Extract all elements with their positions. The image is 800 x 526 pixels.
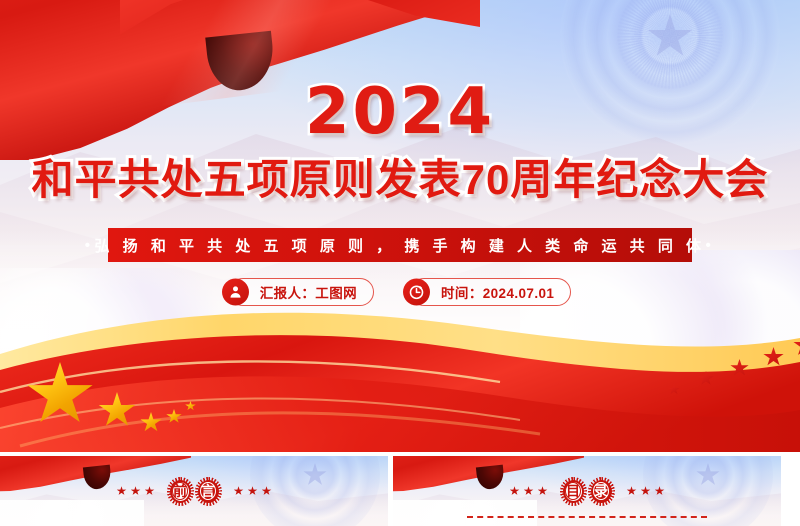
seal-badge: 前: [167, 477, 194, 506]
seal-char: 录: [588, 477, 615, 506]
subtitle-banner: • 弘 扬 和 平 共 处 五 项 原 则 ， 携 手 构 建 人 类 命 运 …: [108, 228, 692, 262]
seal-badge: 目: [560, 477, 587, 506]
subtitle-dot-right: •: [706, 237, 716, 254]
thumbnail-strip: 前 言: [0, 456, 800, 526]
slide-content: 2024 和平共处五项原则发表70周年纪念大会 • 弘 扬 和 平 共 处 五 …: [0, 0, 800, 452]
seal-pair: 目 录: [560, 477, 615, 506]
meta-pill-row: 汇报人：工图网 时间：2024.07.01: [0, 278, 800, 306]
presenter-pill[interactable]: 汇报人：工图网: [229, 278, 374, 306]
date-pill[interactable]: 时间：2024.07.01: [410, 278, 571, 306]
person-icon: [222, 279, 249, 306]
seal-badge: 言: [195, 477, 222, 506]
seal-char: 言: [195, 477, 222, 506]
clock-icon: [403, 279, 430, 306]
star-group-right: [234, 486, 272, 496]
presenter-label: 汇报人：工图网: [260, 282, 357, 302]
main-slide[interactable]: 2024 和平共处五项原则发表70周年纪念大会 • 弘 扬 和 平 共 处 五 …: [0, 0, 800, 452]
thumbnail-contents[interactable]: 目 录: [393, 456, 781, 526]
year-heading: 2024: [0, 80, 800, 144]
subtitle-text: 弘 扬 和 平 共 处 五 项 原 则 ， 携 手 构 建 人 类 命 运 共 …: [94, 235, 705, 256]
star-group-left: [117, 486, 155, 496]
seal-badge: 录: [588, 477, 615, 506]
preface-heading: 前 言: [0, 456, 388, 526]
dashed-rule: [467, 516, 707, 518]
date-label: 时间：2024.07.01: [441, 282, 554, 302]
seal-char: 前: [167, 477, 194, 506]
presentation-preview: 2024 和平共处五项原则发表70周年纪念大会 • 弘 扬 和 平 共 处 五 …: [0, 0, 800, 526]
seal-char: 目: [560, 477, 587, 506]
subtitle-dot-left: •: [85, 237, 95, 254]
star-group-right: [627, 486, 665, 496]
page-title: 和平共处五项原则发表70周年纪念大会: [0, 158, 800, 202]
thumbnail-preface[interactable]: 前 言: [0, 456, 388, 526]
seal-pair: 前 言: [167, 477, 222, 506]
star-group-left: [510, 486, 548, 496]
